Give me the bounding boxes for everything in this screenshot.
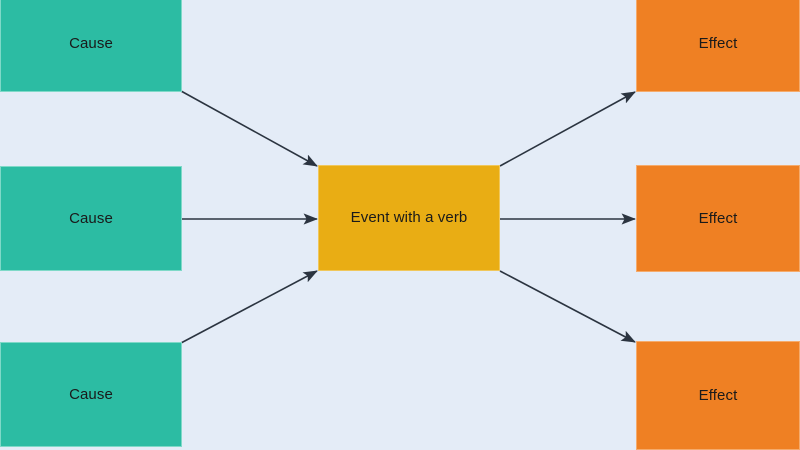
node-cause-middle[interactable]: Cause [0, 166, 182, 271]
edge-cause-bottom-to-event [181, 271, 317, 343]
edge-event-to-effect-bottom [500, 271, 635, 342]
node-event-center[interactable]: Event with a verb [318, 165, 500, 271]
node-effect-bottom[interactable]: Effect [636, 341, 800, 450]
node-label: Cause [69, 386, 113, 404]
node-label: Event with a verb [351, 209, 468, 227]
node-label: Effect [699, 387, 738, 405]
node-label: Effect [699, 210, 738, 228]
node-effect-top[interactable]: Effect [636, 0, 800, 92]
node-label: Cause [69, 210, 113, 228]
node-label: Cause [69, 35, 113, 53]
node-cause-top[interactable]: Cause [0, 0, 182, 92]
node-effect-middle[interactable]: Effect [636, 165, 800, 272]
node-label: Effect [699, 35, 738, 53]
edge-cause-top-to-event [181, 91, 317, 166]
edge-event-to-effect-top [500, 92, 635, 166]
diagram-canvas: Cause Cause Cause Event with a verb Effe… [0, 0, 800, 450]
node-cause-bottom[interactable]: Cause [0, 342, 182, 447]
